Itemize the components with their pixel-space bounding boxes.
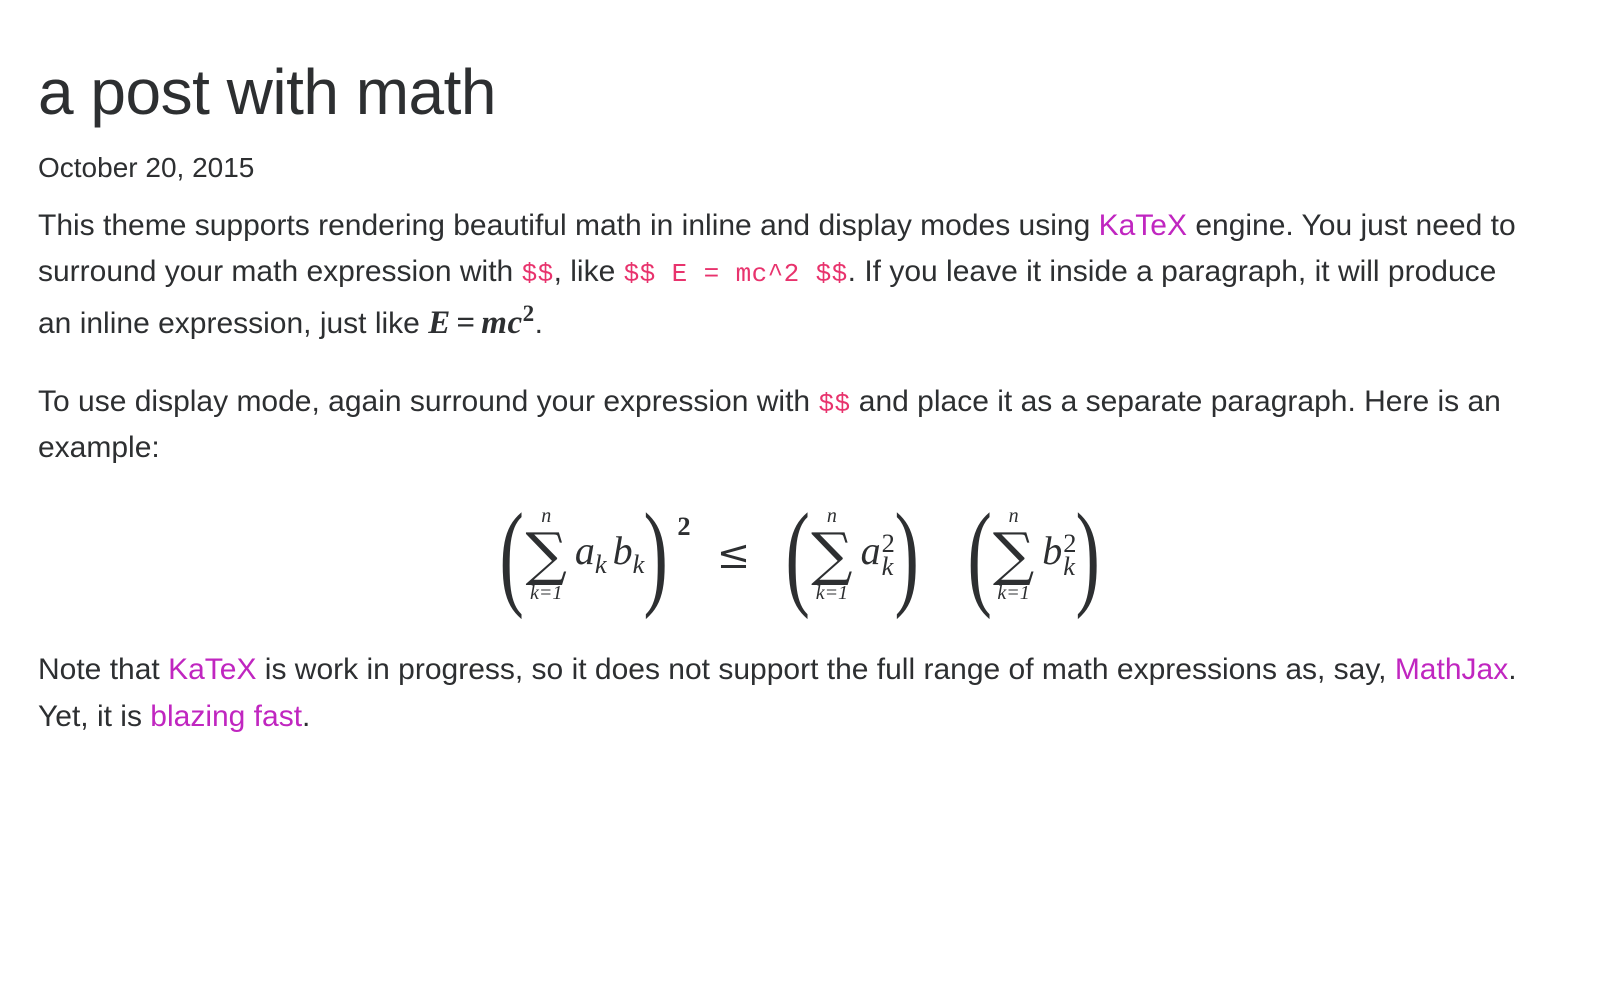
math-symbol-m: m — [481, 305, 507, 341]
math-group-left: ( n ∑ k=1 ak bk ) 2 — [492, 506, 688, 603]
math-term-bk-squared: b2k — [1042, 530, 1076, 580]
math-base-b: b — [1042, 528, 1062, 573]
paragraph-note: Note that KaTeX is work in progress, so … — [38, 647, 1538, 740]
paragraph-display-mode: To use display mode, again surround your… — [38, 379, 1538, 472]
post-page: a post with math October 20, 2015 This t… — [0, 0, 1600, 1000]
math-group-right: ( n ∑ k=1 b2k ) — [960, 506, 1108, 603]
post-body: This theme supports rendering beautiful … — [38, 185, 1562, 741]
text-fragment: This theme supports rendering beautiful … — [38, 209, 1099, 242]
math-paren-left: ( — [967, 509, 991, 601]
math-base-a: a — [861, 528, 881, 573]
math-symbol-E: E — [428, 305, 451, 341]
math-term-ak: ak — [575, 531, 607, 577]
code-dollar-delimiters: $$ — [522, 259, 554, 289]
link-katex[interactable]: KaTeX — [1099, 209, 1187, 242]
page-title: a post with math — [38, 0, 1562, 127]
math-term-bk: bk — [613, 531, 645, 577]
math-summation: n ∑ k=1 — [993, 506, 1034, 603]
math-sigma-icon: ∑ — [993, 528, 1034, 581]
math-summation: n ∑ k=1 — [811, 506, 852, 603]
math-paren-right: ) — [1076, 509, 1100, 601]
math-paren-right: ) — [644, 509, 668, 601]
math-sigma-icon: ∑ — [526, 528, 567, 581]
text-fragment: , like — [554, 255, 624, 288]
math-symbol-c: c — [507, 305, 522, 341]
math-lower-limit: k=1 — [816, 583, 848, 603]
math-lower-limit: k=1 — [997, 583, 1029, 603]
code-dollar-delimiters: $$ — [818, 389, 850, 419]
inline-math-emc2: E=mc2 — [428, 305, 534, 341]
math-sub-k: k — [882, 553, 895, 579]
math-sub-k: k — [595, 549, 607, 579]
math-outer-exponent: 2 — [677, 513, 690, 539]
math-paren-left: ( — [500, 509, 524, 601]
math-relation-leq: ≤ — [699, 535, 769, 575]
math-exponent-2: 2 — [523, 300, 535, 326]
text-fragment: . — [302, 700, 310, 733]
text-fragment: To use display mode, again surround your… — [38, 385, 818, 418]
text-fragment: . — [535, 307, 543, 340]
math-base-b: b — [613, 528, 633, 573]
math-subsup: 2k — [882, 530, 895, 580]
link-blazing-fast[interactable]: blazing fast — [150, 700, 302, 733]
display-math-container: ( n ∑ k=1 ak bk ) 2 ≤ ( n ∑ — [38, 506, 1562, 603]
code-math-example: $$ E = mc^2 $$ — [624, 259, 848, 289]
math-paren-left: ( — [786, 509, 810, 601]
math-base-a: a — [575, 528, 595, 573]
link-katex[interactable]: KaTeX — [168, 653, 256, 686]
text-fragment: is work in progress, so it does not supp… — [256, 653, 1394, 686]
math-term-ak-squared: a2k — [861, 530, 895, 580]
math-lower-limit: k=1 — [530, 583, 562, 603]
post-date: October 20, 2015 — [38, 127, 1562, 185]
math-summation: n ∑ k=1 — [526, 506, 567, 603]
text-fragment: Note that — [38, 653, 168, 686]
math-operator-equals: = — [451, 305, 482, 341]
display-math-cauchy-schwarz: ( n ∑ k=1 ak bk ) 2 ≤ ( n ∑ — [492, 506, 1107, 603]
math-group-middle: ( n ∑ k=1 a2k ) — [778, 506, 926, 603]
link-mathjax[interactable]: MathJax — [1395, 653, 1508, 686]
math-sigma-icon: ∑ — [811, 528, 852, 581]
paragraph-intro: This theme supports rendering beautiful … — [38, 203, 1538, 349]
math-paren-right: ) — [894, 509, 918, 601]
